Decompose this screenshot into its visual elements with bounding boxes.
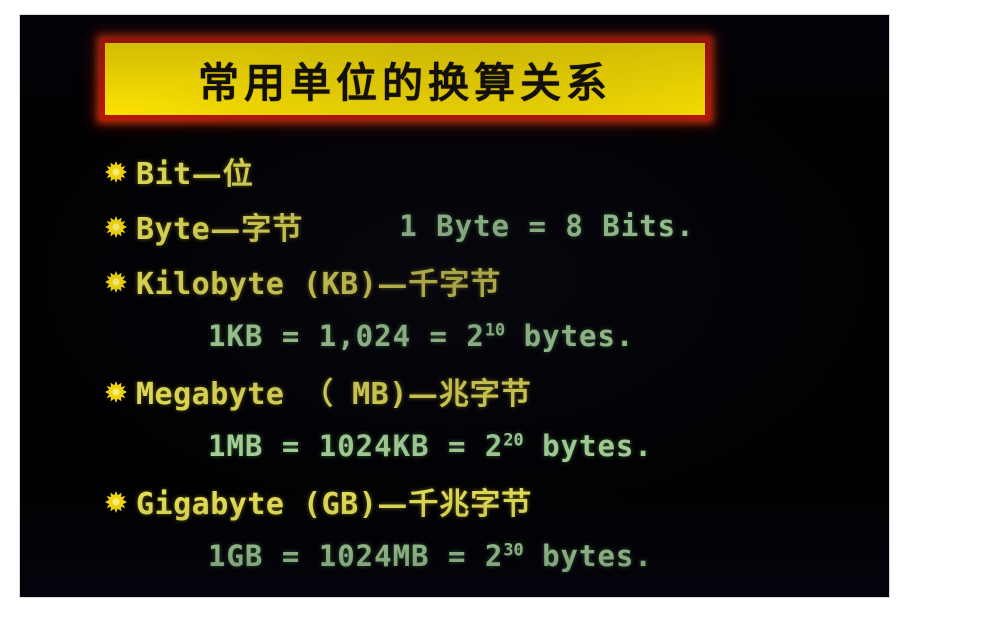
bullet-line: Kilobyte (KB)—千字节	[104, 253, 879, 308]
formula-line: 1MB = 1024KB = 220 bytes.	[104, 418, 879, 473]
list-item: Megabyte （ MB)—兆字节 1MB = 1024KB = 220 by…	[104, 363, 879, 473]
formula-line: 1GB = 1024MB = 230 bytes.	[104, 528, 879, 583]
list-item: Byte—字节 1 Byte = 8 Bits.	[104, 198, 879, 253]
sunburst-star-icon	[105, 381, 127, 403]
bullet-label: Gigabyte (GB)—千兆字节	[136, 479, 532, 523]
formula-exponent: 10	[485, 319, 505, 339]
sunburst-star-icon	[105, 491, 127, 513]
bullet-line: Gigabyte (GB)—千兆字节	[104, 473, 879, 528]
formula-text: 1GB = 1024MB = 230 bytes.	[208, 539, 653, 573]
list-item: Bit—位	[104, 143, 879, 198]
sunburst-star-icon	[105, 216, 127, 238]
bullet-label: Bit—位	[136, 149, 254, 193]
list-item: Kilobyte (KB)—千字节 1KB = 1,024 = 210 byte…	[104, 253, 879, 363]
list-item: Gigabyte (GB)—千兆字节 1GB = 1024MB = 230 by…	[104, 473, 879, 583]
formula-exponent: 20	[503, 429, 523, 449]
bullet-line: Bit—位	[104, 143, 879, 198]
presentation-slide: 常用单位的换算关系 Bit—位	[20, 15, 889, 597]
unit-conversion-list: Bit—位 Byte—字节 1 Byte = 8 Bits.	[104, 143, 879, 583]
formula-text: 1MB = 1024KB = 220 bytes.	[208, 429, 653, 463]
bullet-label: Byte—字节	[136, 204, 303, 248]
bullet-line: Byte—字节 1 Byte = 8 Bits.	[104, 198, 879, 253]
formula-line: 1KB = 1,024 = 210 bytes.	[104, 308, 879, 363]
sunburst-star-icon	[105, 271, 127, 293]
formula-exponent: 30	[503, 539, 523, 559]
bullet-label: Megabyte （ MB)—兆字节	[136, 369, 532, 413]
page-title: 常用单位的换算关系	[198, 49, 612, 109]
inline-formula: 1 Byte = 8 Bits.	[399, 209, 694, 243]
slide-title-banner: 常用单位的换算关系	[100, 38, 710, 120]
bullet-line: Megabyte （ MB)—兆字节	[104, 363, 879, 418]
sunburst-star-icon	[105, 161, 127, 183]
formula-text: 1KB = 1,024 = 210 bytes.	[208, 319, 634, 353]
bullet-label: Kilobyte (KB)—千字节	[136, 259, 501, 303]
page-canvas: 常用单位的换算关系 Bit—位	[0, 0, 1000, 620]
